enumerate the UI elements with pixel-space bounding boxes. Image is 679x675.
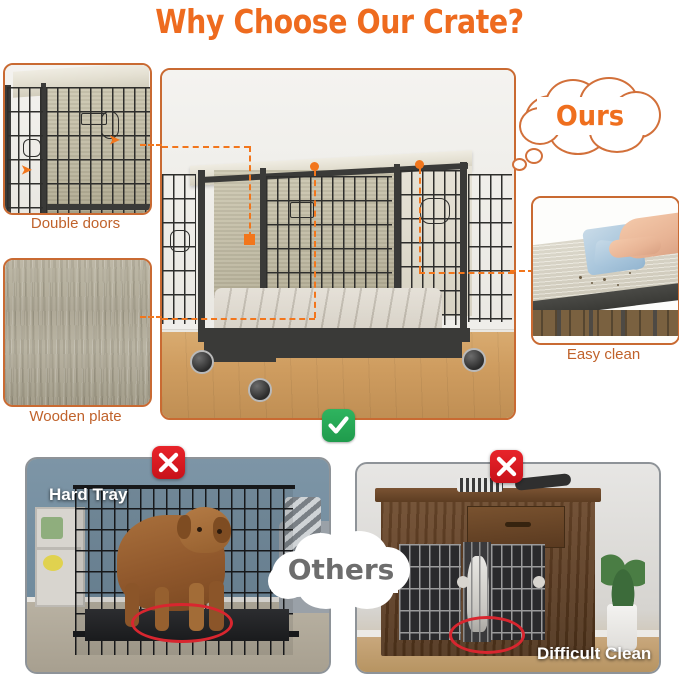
connector-left [140,144,162,146]
callout-line [419,272,514,274]
others-label: Others [268,553,414,586]
bubble-dot-large [525,148,543,164]
feature-panel-double-doors: ➤ ➤ [3,63,152,215]
wooden-plate-texture [5,260,150,405]
arrow-icon: ➤ [21,163,32,176]
cross-icon [152,446,185,479]
feature-panel-wooden-plate [3,258,152,407]
page-title: Why Choose Our Crate? [48,2,632,41]
callout-line [249,146,251,238]
hard-tray-label: Hard Tray [49,485,127,505]
difficult-clean-label: Difficult Clean [537,644,651,664]
caption-wooden-plate: Wooden plate [3,408,148,425]
red-ellipse-highlight [449,616,525,654]
ours-speech-bubble: Ours [519,77,661,153]
easy-clean-photo [533,198,678,343]
caption-double-doors: Double doors [3,215,148,232]
check-icon [322,409,355,442]
others-speech-bubble: Others [268,531,414,611]
main-product-photo [160,68,516,420]
caster-wheel [248,378,272,402]
caption-easy-clean: Easy clean [531,346,676,363]
callout-line [314,170,316,318]
feature-panel-easy-clean [531,196,679,345]
callout-line [162,318,315,320]
double-doors-photo: ➤ ➤ [5,65,150,213]
callout-line [162,146,250,148]
arrow-icon: ➤ [109,133,120,146]
infographic-stage: Why Choose Our Crate? ➤ ➤ [0,0,679,675]
red-ellipse-highlight [131,603,233,643]
bubble-dot-small [512,158,527,171]
caster-wheel [190,350,214,374]
callout-line [419,168,421,272]
cross-icon [490,450,523,483]
callout-marker [244,234,255,245]
connector-left-lower [140,316,162,318]
caster-wheel [462,348,486,372]
ours-label: Ours [525,99,656,132]
